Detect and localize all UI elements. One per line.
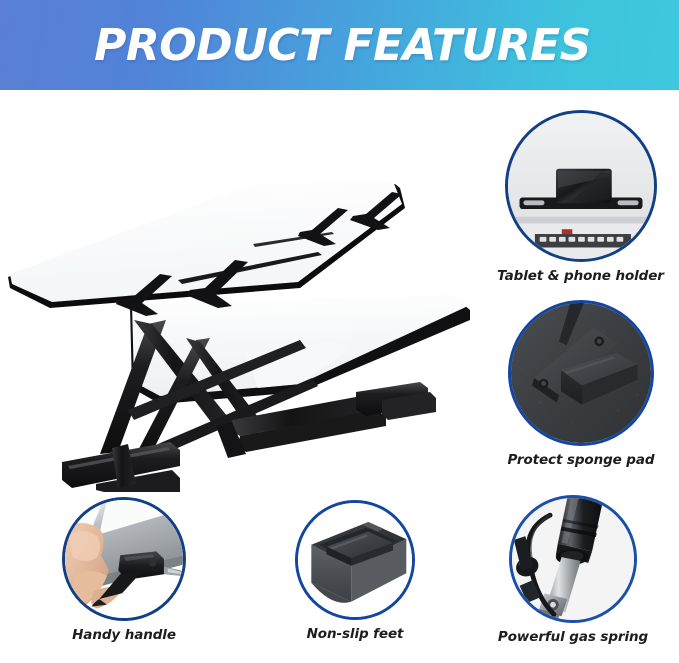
callout-label-sponge: Protect sponge pad: [498, 452, 664, 468]
non-slip-foot-photo: [298, 503, 412, 617]
callout-non-slip-feet: Non-slip feet: [295, 500, 424, 642]
callout-circle-tablet: [505, 110, 657, 262]
gas-spring-photo: [512, 498, 634, 620]
callout-tablet-phone-holder: Tablet & phone holder: [505, 110, 668, 284]
callout-handy-handle: Handy handle: [62, 497, 194, 643]
callout-label-spring: Powerful gas spring: [488, 629, 658, 645]
callout-label-handle: Handy handle: [54, 627, 194, 643]
header-banner: PRODUCT FEATURES: [0, 0, 679, 90]
callout-protect-sponge-pad: Protect sponge pad: [508, 300, 664, 468]
handy-handle-photo: [65, 500, 183, 618]
callout-circle-spring: [509, 495, 637, 623]
callout-label-feet: Non-slip feet: [286, 626, 424, 642]
product-hero-image: [0, 92, 480, 492]
callout-powerful-gas-spring: Powerful gas spring: [509, 495, 658, 645]
callout-circle-sponge: [508, 300, 654, 446]
callout-circle-feet: [295, 500, 415, 620]
page-title: PRODUCT FEATURES: [0, 0, 679, 90]
tablet-holder-photo: [508, 113, 654, 259]
sponge-pad-photo: [511, 303, 651, 443]
callout-circle-handle: [62, 497, 186, 621]
callout-label-tablet: Tablet & phone holder: [493, 268, 668, 284]
